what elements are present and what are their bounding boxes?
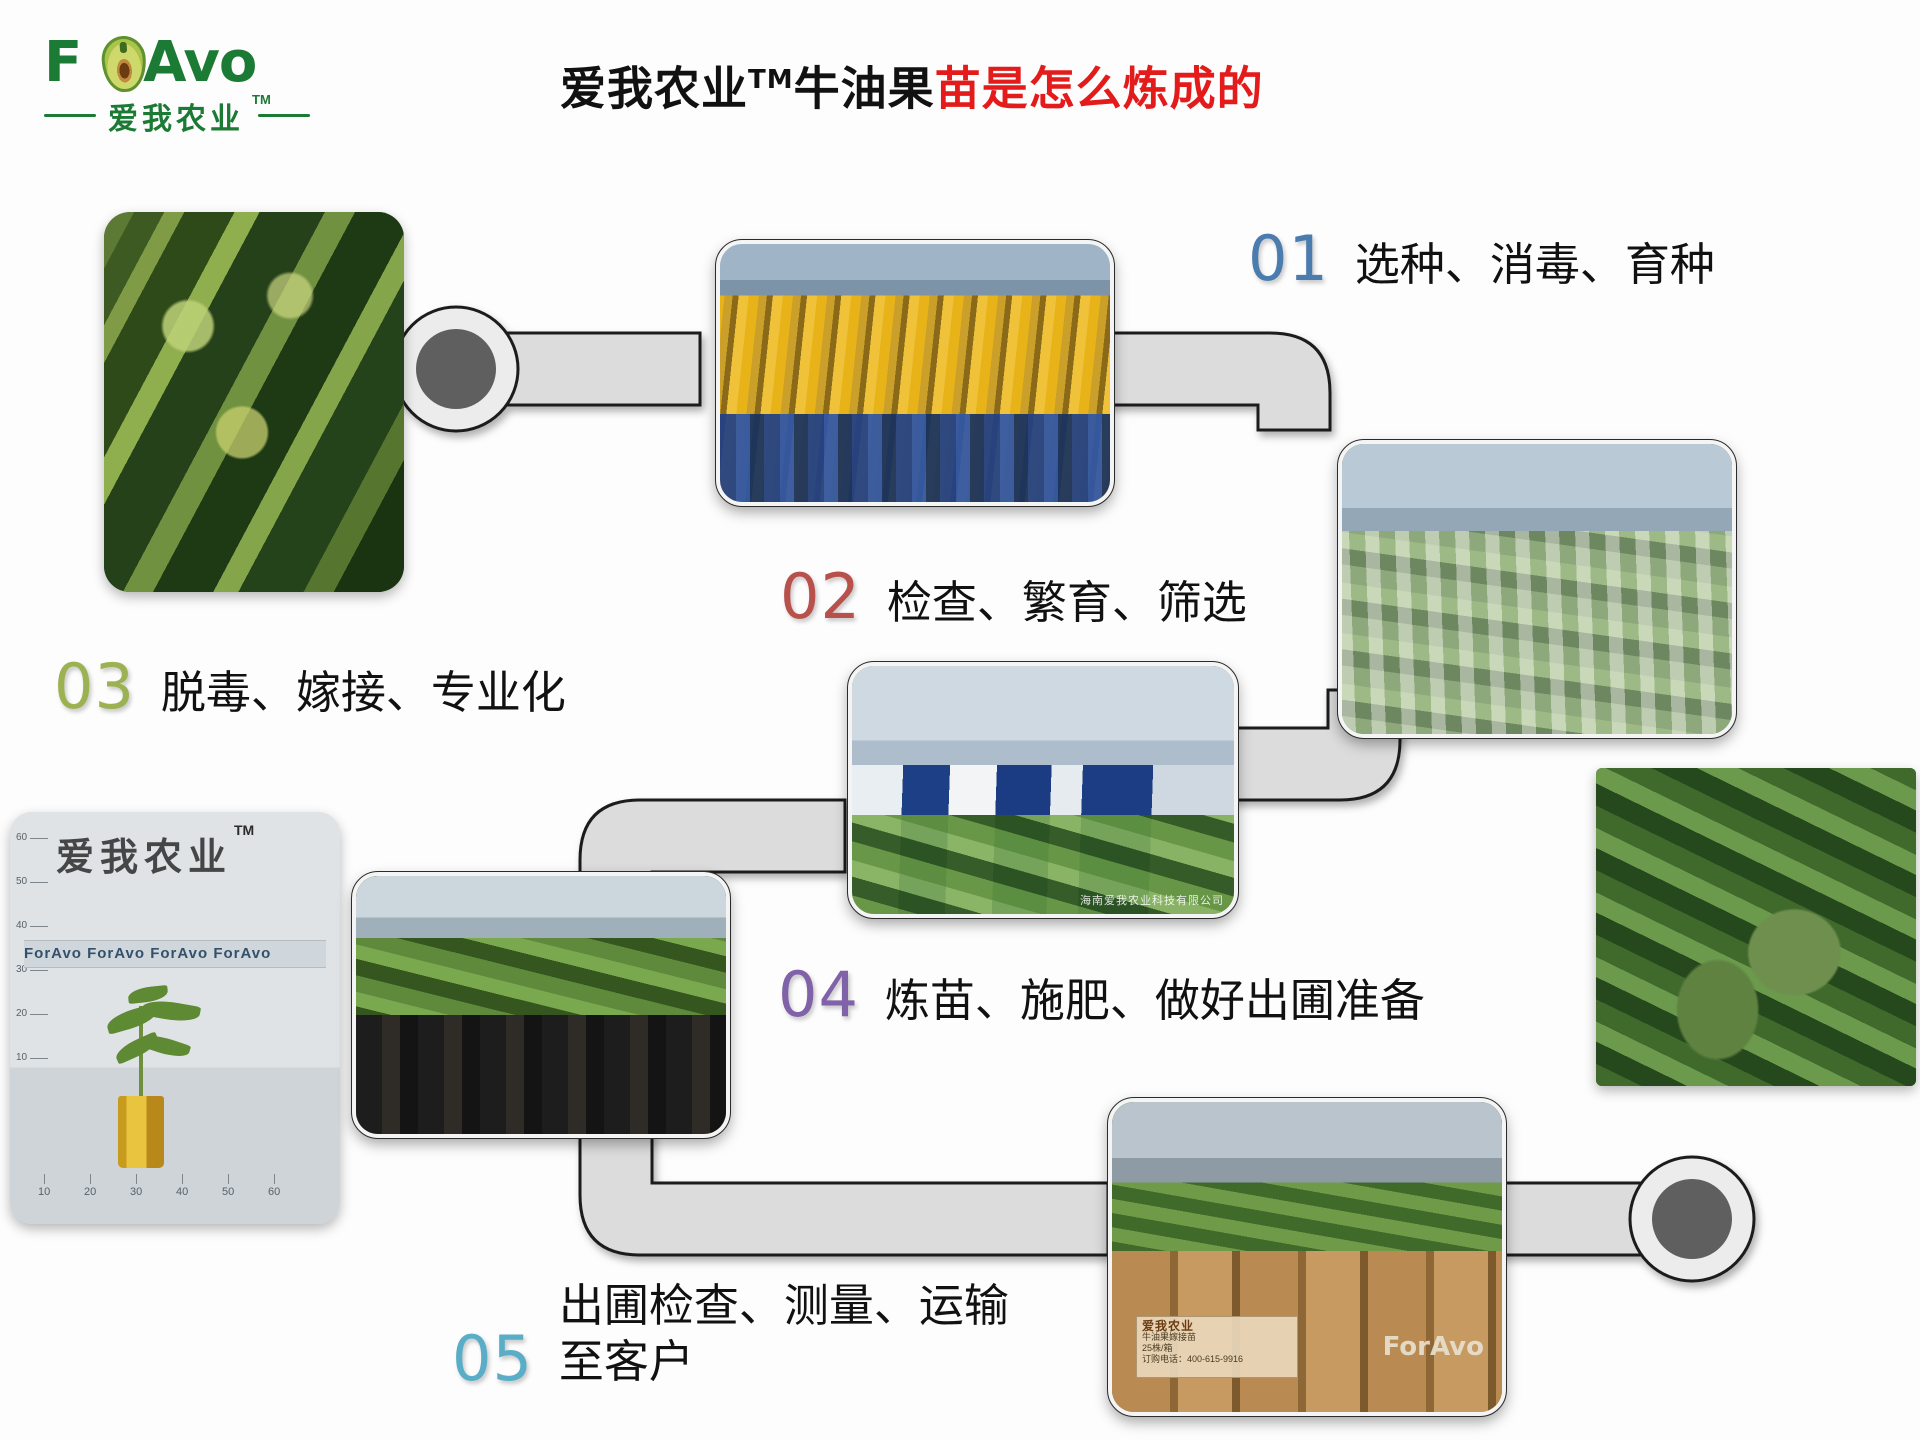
step-text: 出圃检查、测量、运输 至客户	[559, 1278, 1009, 1390]
step-text: 选种、消毒、育种	[1355, 237, 1715, 293]
logo-rule-left	[44, 114, 96, 117]
ruler-x-tick: 40	[176, 1186, 188, 1198]
ruler-brand-band: ForAvo ForAvo ForAvo ForAvo	[24, 940, 326, 968]
infographic-canvas: ForAvo 爱我农业 TM 爱我农业TM牛油果苗是怎么炼成的	[0, 0, 1920, 1440]
photo-watermark: 海南爱我农业科技有限公司	[1080, 892, 1224, 908]
photo-avocado-flower	[104, 212, 404, 592]
carton-label-title: 爱我农业	[1142, 1321, 1292, 1332]
logo-chinese-name: 爱我农业	[108, 94, 244, 138]
seedling-pot	[118, 1096, 164, 1168]
step-label-05: 05 出圃检查、测量、运输 至客户	[452, 1278, 1009, 1390]
step-number: 03	[54, 650, 135, 723]
seedling-leaf	[139, 1031, 191, 1062]
step-label-04: 04 炼苗、施肥、做好出圃准备	[778, 958, 1425, 1031]
ruler-x-tick: 50	[222, 1186, 234, 1198]
carton-brand-text: ForAvo	[1383, 1332, 1484, 1362]
photo-image	[104, 212, 404, 592]
ruler-x-tick: 10	[38, 1186, 50, 1198]
step-text: 炼苗、施肥、做好出圃准备	[885, 973, 1425, 1029]
ruler-x-tick: 20	[84, 1186, 96, 1198]
photo-image	[1596, 768, 1916, 1086]
carton-label-line1: 牛油果嫁接苗	[1142, 1332, 1292, 1343]
ruler-watermark: 爱我农业	[56, 826, 232, 881]
photo-shipping-cartons: 爱我农业 牛油果嫁接苗 25株/箱 订购电话：400-615-9916 ForA…	[1108, 1098, 1506, 1416]
step-label-01: 01 选种、消毒、育种	[1248, 222, 1715, 295]
carton-label: 爱我农业 牛油果嫁接苗 25株/箱 订购电话：400-615-9916	[1136, 1316, 1298, 1378]
brand-logo: ForAvo 爱我农业 TM	[44, 28, 314, 138]
ruler-x-tick: 60	[268, 1186, 280, 1198]
step-label-02: 02 检查、繁育、筛选	[780, 560, 1247, 633]
carton-label-line2: 25株/箱	[1142, 1343, 1292, 1354]
step-number: 05	[452, 1322, 533, 1395]
step-text: 脱毒、嫁接、专业化	[161, 665, 566, 721]
ruler-watermark-tm: TM	[234, 822, 254, 838]
photo-staff-inspection: 海南爱我农业科技有限公司	[848, 662, 1238, 918]
logo-rule-right	[258, 114, 310, 117]
step-number: 04	[778, 958, 859, 1031]
photo-avocado-fruit	[1596, 768, 1916, 1086]
ruler-y-tick: 10	[16, 1052, 27, 1063]
ruler-x-tick: 30	[130, 1186, 142, 1198]
photo-seedling-ruler: 爱我农业 TM 60 50 40 30 20 10 ForAvo ForAvo …	[10, 812, 340, 1224]
title-black-part: 爱我农业	[560, 61, 748, 115]
ruler-y-tick: 60	[16, 832, 27, 843]
carton-label-line3: 订购电话：400-615-9916	[1142, 1354, 1292, 1365]
ruler-vertical-scale: 60 50 40 30 20 10	[16, 830, 50, 1164]
photo-image	[1342, 444, 1732, 734]
logo-trademark-mark: TM	[252, 92, 271, 107]
logo-wordmark: ForAvo	[44, 28, 314, 98]
step-text: 检查、繁育、筛选	[887, 575, 1247, 631]
step-label-03: 03 脱毒、嫁接、专业化	[54, 650, 566, 723]
ruler-y-tick: 40	[16, 920, 27, 931]
photo-seed-trays	[716, 240, 1114, 506]
title-black-part2: 牛油果	[794, 61, 935, 115]
ruler-y-tick: 50	[16, 876, 27, 887]
step-number: 01	[1248, 222, 1329, 295]
photo-image: 爱我农业 TM 60 50 40 30 20 10 ForAvo ForAvo …	[10, 812, 340, 1224]
title-red-part: 苗是怎么炼成的	[935, 61, 1264, 115]
photo-image	[852, 666, 1234, 914]
title-tm: TM	[748, 65, 794, 95]
step-number: 02	[780, 560, 861, 633]
ruler-horizontal-scale: 10 20 30 40 50 60	[10, 1168, 340, 1198]
page-title: 爱我农业TM牛油果苗是怎么炼成的	[560, 44, 1420, 116]
photo-greenhouse-rows	[1338, 440, 1736, 738]
ruler-y-tick: 20	[16, 1008, 27, 1019]
photo-potted-seedlings	[352, 872, 730, 1138]
photo-image	[356, 876, 726, 1134]
photo-image	[720, 244, 1110, 502]
